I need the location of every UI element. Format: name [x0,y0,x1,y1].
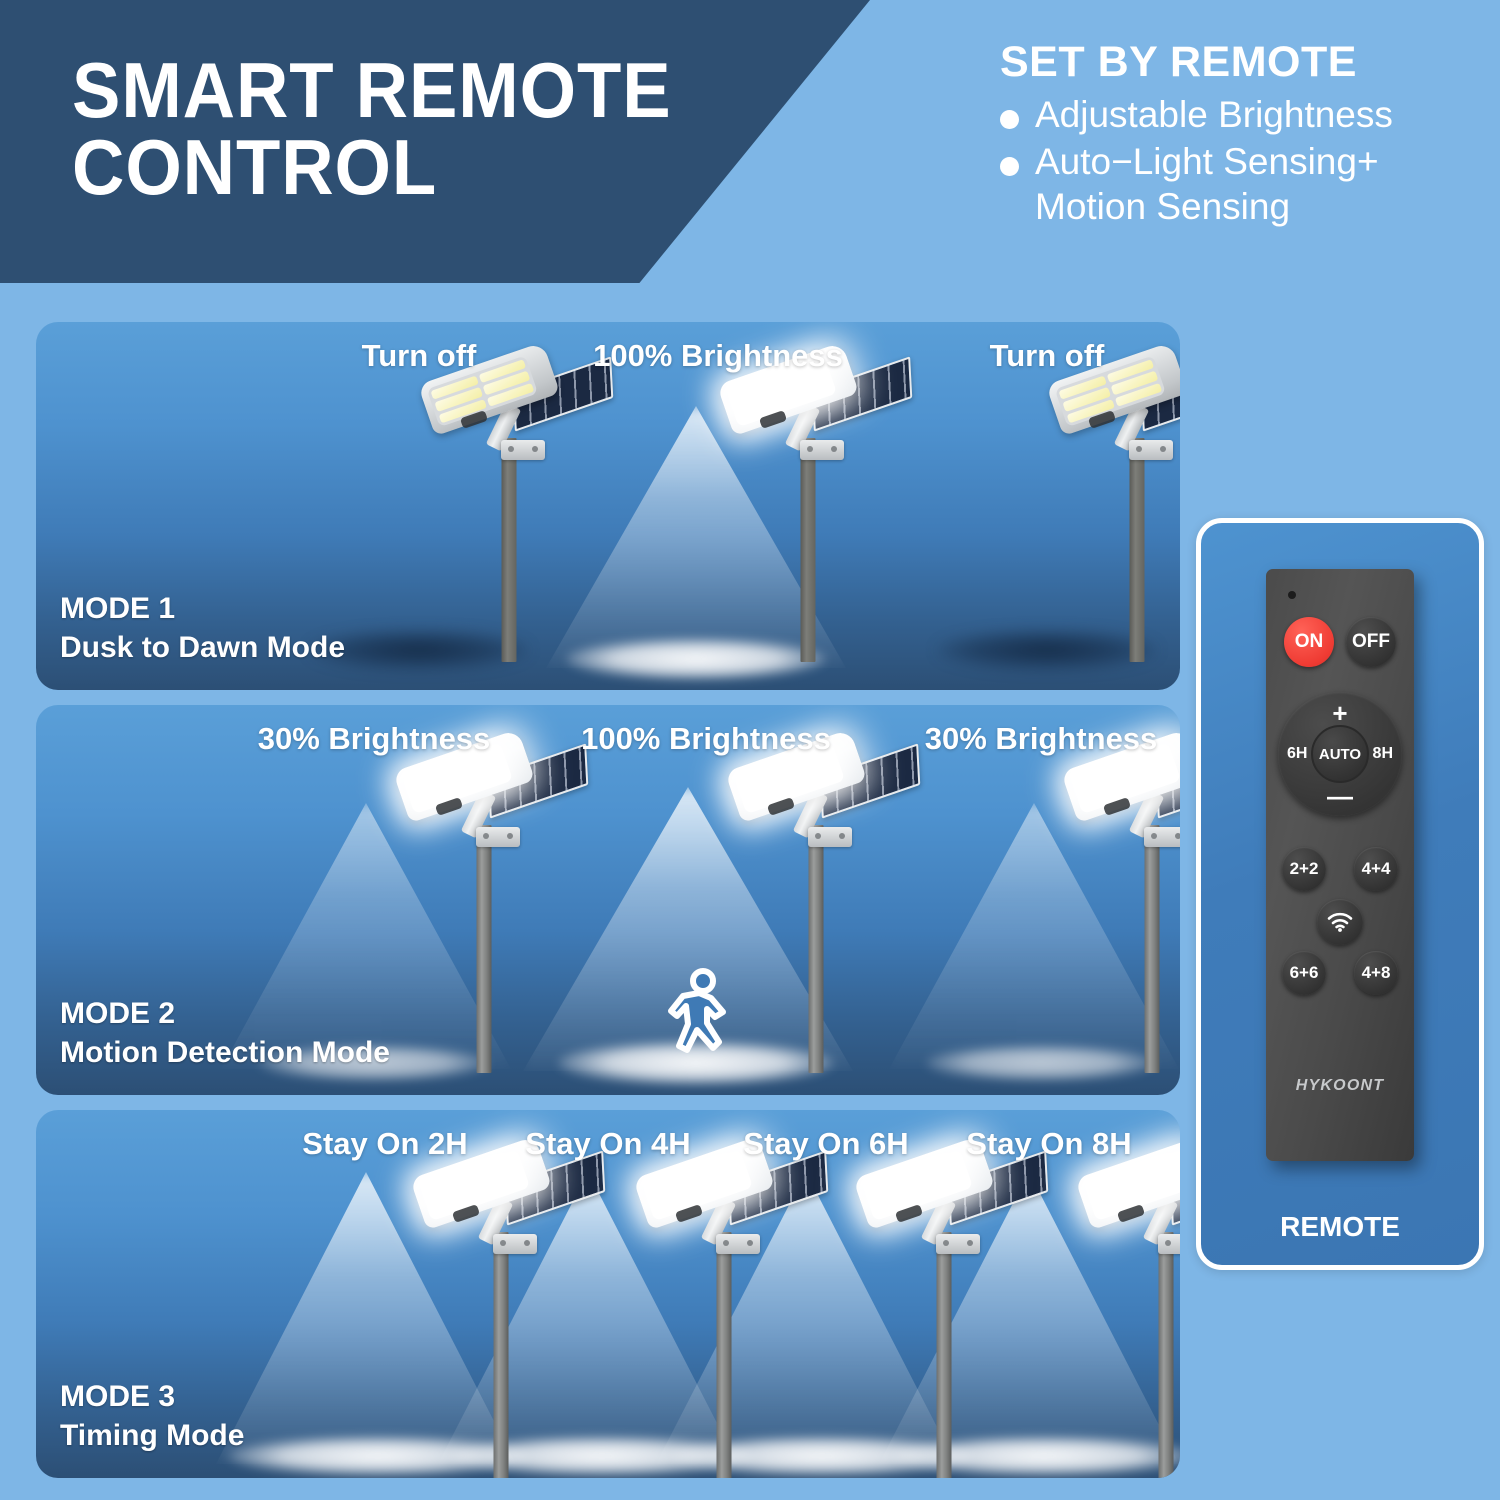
timer-6h-button[interactable]: 6H [1287,745,1307,763]
street-lamp [1062,741,1180,1061]
street-lamp [1047,354,1180,654]
header-feature-block: SET BY REMOTE Adjustable Brightness Auto… [1000,38,1470,229]
remote-caption: REMOTE [1201,1211,1479,1243]
lamp-bracket [501,440,545,460]
state-label: 100% Brightness [581,721,831,757]
auto-button[interactable]: AUTO [1311,725,1369,783]
lamp-bracket [476,827,520,847]
preset-2plus2-button[interactable]: 2+2 [1282,847,1326,891]
state-label: Stay On 4H [525,1126,690,1162]
street-lamp [1076,1148,1180,1478]
wifi-button[interactable] [1317,899,1363,945]
mode-panel-3: MODE 3 Timing Mode Stay On 2H Stay On 4H… [36,1110,1180,1478]
remote-on-button[interactable]: ON [1284,617,1334,667]
street-lamp [634,1148,814,1478]
remote-device: ON OFF + 6H 8H — AUTO 2+2 4+4 6+6 4+8 HY… [1266,569,1414,1161]
street-lamp [718,354,898,654]
state-label: Turn off [990,338,1105,374]
remote-off-button[interactable]: OFF [1346,617,1396,667]
lamp-bracket [800,440,844,460]
brightness-up-button[interactable]: + [1332,700,1347,726]
street-lamp [726,741,906,1061]
ir-led-icon [1288,591,1296,599]
lamp-bracket [493,1234,537,1254]
mode-caption: MODE 3 Timing Mode [60,1377,244,1456]
lamp-pole [1159,1232,1174,1478]
mode-panel-1: MODE 1 Dusk to Dawn Mode Turn off 100% B… [36,322,1180,690]
feature-label: Adjustable Brightness [1035,93,1393,138]
street-lamp [411,1148,591,1478]
lamp-bracket [716,1234,760,1254]
lamp-bracket [808,827,852,847]
lamp-pole [717,1232,732,1478]
wifi-icon [1327,912,1353,932]
remote-card: ON OFF + 6H 8H — AUTO 2+2 4+4 6+6 4+8 HY… [1196,518,1484,1270]
feature-label: Auto−Light Sensing+ Motion Sensing [1035,140,1379,230]
bullet-dot-icon [1000,157,1019,176]
lamp-bracket [1144,827,1180,847]
state-label: Stay On 6H [743,1126,908,1162]
state-label: Stay On 8H [966,1126,1131,1162]
street-lamp [394,741,574,1061]
lamp-bracket [1129,440,1173,460]
lamp-pole [801,438,816,662]
preset-4plus8-button[interactable]: 4+8 [1354,951,1398,995]
street-lamp [419,354,599,654]
feature-item: Adjustable Brightness [1000,93,1470,138]
state-label: 30% Brightness [925,721,1158,757]
preset-6plus6-button[interactable]: 6+6 [1282,951,1326,995]
mode-panel-2: MODE 2 Motion Detection Mode 30% Brightn… [36,705,1180,1095]
remote-brand-logo: HYKOONT [1266,1077,1414,1095]
bullet-dot-icon [1000,110,1019,129]
lamp-pole [502,438,517,662]
remote-dpad[interactable]: + 6H 8H — AUTO [1278,692,1402,816]
walking-person-icon [665,968,739,1068]
lamp-pole [1145,825,1160,1073]
set-by-remote-heading: SET BY REMOTE [1000,38,1470,87]
lamp-bracket [1158,1234,1180,1254]
lamp-pole [1130,438,1145,662]
lamp-pole [477,825,492,1073]
state-label: 100% Brightness [593,338,843,374]
state-label: Stay On 2H [302,1126,467,1162]
lamp-pole [937,1232,952,1478]
state-label: Turn off [362,338,477,374]
mode-caption: MODE 1 Dusk to Dawn Mode [60,589,345,668]
street-lamp [854,1148,1034,1478]
lamp-pole [494,1232,509,1478]
feature-item: Auto−Light Sensing+ Motion Sensing [1000,140,1470,230]
lamp-bracket [936,1234,980,1254]
brightness-down-button[interactable]: — [1327,790,1353,803]
page-title: SMART REMOTE CONTROL [72,52,779,206]
timer-8h-button[interactable]: 8H [1373,745,1393,763]
lamp-pole [809,825,824,1073]
mode-caption: MODE 2 Motion Detection Mode [60,994,390,1073]
preset-4plus4-button[interactable]: 4+4 [1354,847,1398,891]
state-label: 30% Brightness [258,721,491,757]
